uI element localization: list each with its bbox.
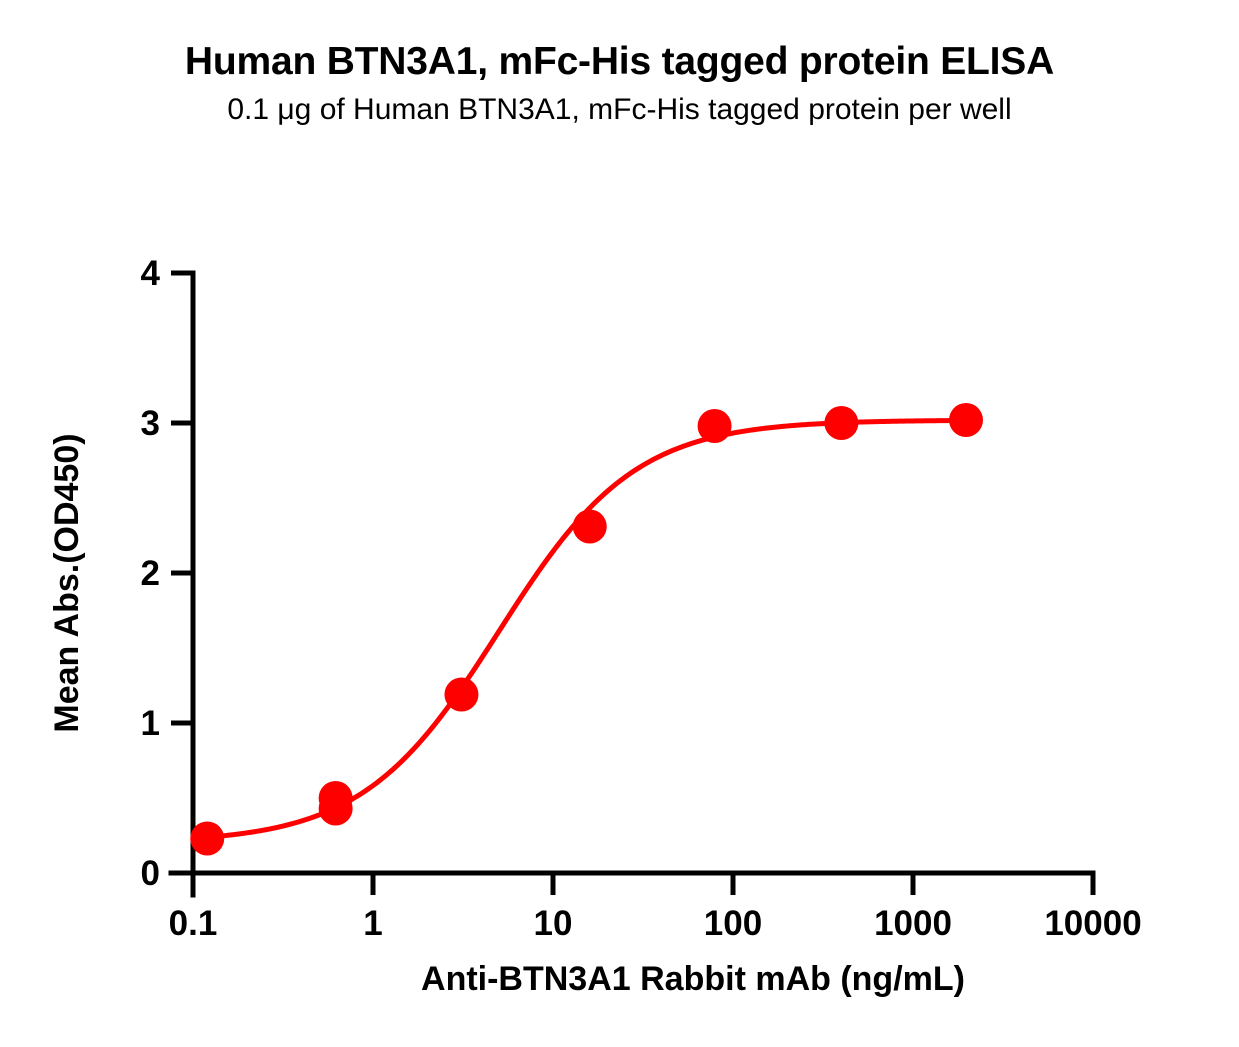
plot-area: 012340.1110100100010000Anti-BTN3A1 Rabbi… [0,0,1239,1047]
y-tick-label-3: 3 [141,404,160,443]
data-point [824,406,858,440]
y-tick-label-2: 2 [141,554,160,593]
fit-curve [204,420,971,837]
elisa-chart-figure: Human BTN3A1, mFc-His tagged protein ELI… [0,0,1239,1047]
data-point [573,510,607,544]
data-point [949,403,983,437]
y-axis-title: Mean Abs.(OD450) [48,433,86,732]
y-tick-label-0: 0 [141,854,160,893]
x-axis-title: Anti-BTN3A1 Rabbit mAb (ng/mL) [421,960,965,998]
data-point [319,792,353,826]
x-tick-label-100: 100 [704,904,762,943]
x-tick-label-0.1: 0.1 [169,904,218,943]
y-tick-label-4: 4 [141,254,161,293]
data-point [698,409,732,443]
x-tick-label-1000: 1000 [874,904,952,943]
data-point [444,678,478,712]
x-tick-label-10000: 10000 [1044,904,1141,943]
y-tick-label-1: 1 [141,704,160,743]
x-tick-label-10: 10 [534,904,573,943]
x-tick-label-1: 1 [363,904,382,943]
data-point [190,822,224,856]
